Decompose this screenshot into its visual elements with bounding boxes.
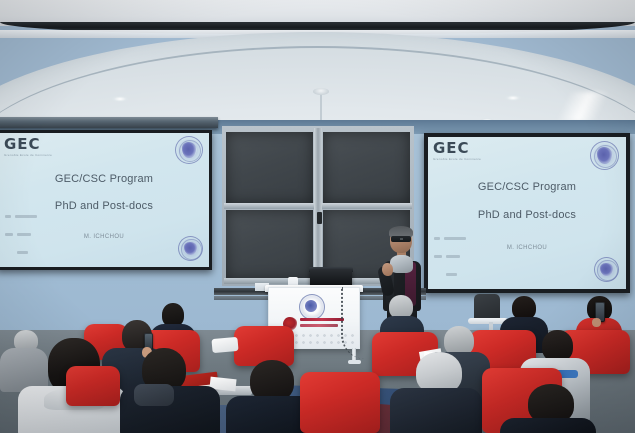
- slide-footer-row: [434, 248, 466, 266]
- footer-mark: [17, 251, 28, 254]
- slide-title: GEC/CSC Program: [428, 181, 626, 193]
- footer-mark: [434, 255, 442, 258]
- presenter-scarf: [390, 255, 413, 273]
- university-seal-icon: [175, 136, 203, 164]
- slide-logo-text: GEC: [4, 137, 52, 152]
- footer-mark: [434, 237, 440, 240]
- ceiling-light-icon: [505, 95, 521, 101]
- chalkboard-panel: [323, 132, 410, 204]
- person-hand: [592, 318, 601, 327]
- slide-footer-row: [5, 226, 37, 244]
- footer-mark: [5, 215, 11, 218]
- slide-logo-text: GEC: [433, 141, 481, 156]
- footer-mark: [444, 237, 466, 240]
- podium-emblem-text: [300, 318, 344, 321]
- footer-mark: [15, 215, 37, 218]
- slide-footer-row: [5, 208, 37, 226]
- slide-logo: GEC Grenoble Ecole de Commerce: [433, 141, 481, 161]
- seal-inner: [597, 147, 612, 163]
- right-projection-screen: GEC Grenoble Ecole de Commerce GEC/CSC P…: [424, 133, 630, 293]
- person-body: [500, 418, 596, 433]
- audience-member-foreground: [120, 348, 220, 433]
- seal-inner: [182, 142, 197, 158]
- slide-footer-row: [434, 230, 466, 248]
- person-scarf: [134, 384, 174, 406]
- lecture-hall-photo: GEC Grenoble Ecole de Commerce GEC/CSC P…: [0, 0, 635, 433]
- left-projection-screen: GEC Grenoble Ecole de Commerce GEC/CSC P…: [0, 130, 212, 270]
- audience-member-foreground: [500, 384, 596, 433]
- podium-emblem: [283, 316, 345, 331]
- sunglasses-bridge: [400, 238, 403, 240]
- hanging-microphone-icon: [313, 88, 329, 95]
- slide-logo-subtext: Grenoble Ecole de Commerce: [433, 158, 481, 161]
- footer-mark: [446, 273, 457, 276]
- footer-mark: [17, 233, 31, 236]
- ceiling-light-icon: [112, 96, 128, 102]
- footer-mark: [446, 255, 460, 258]
- chalkboard-panel: [226, 132, 313, 204]
- slide-footer: [5, 208, 37, 262]
- slide-logo: GEC Grenoble Ecole de Commerce: [4, 137, 52, 157]
- audience-chair-foreground: [66, 366, 120, 406]
- audience-chair-foreground: [300, 372, 380, 433]
- university-seal-icon: [594, 257, 619, 282]
- slide-footer-row: [434, 266, 466, 284]
- slide-surface: GEC Grenoble Ecole de Commerce GEC/CSC P…: [0, 133, 209, 267]
- podium-foot: [348, 360, 361, 364]
- slide-subtitle: PhD and Post-docs: [428, 209, 626, 221]
- university-seal-icon: [590, 141, 619, 170]
- chalkboard-clip-icon: [317, 212, 322, 224]
- footer-mark: [5, 233, 13, 236]
- slide-surface: GEC Grenoble Ecole de Commerce GEC/CSC P…: [428, 137, 626, 289]
- podium-seal-core: [305, 300, 317, 312]
- slide-title: GEC/CSC Program: [0, 173, 209, 185]
- chalkboard-panel: [226, 210, 313, 280]
- podium-emblem-text: [300, 324, 338, 327]
- chalkboard-rail-vertical: [314, 128, 322, 284]
- projection-screen-housing: [0, 117, 218, 128]
- ceiling-glare: [548, 92, 620, 122]
- slide-logo-subtext: Grenoble Ecole de Commerce: [4, 154, 52, 157]
- audience-member-foreground: [390, 352, 482, 433]
- presenter-hand: [382, 263, 393, 276]
- cable: [341, 287, 365, 359]
- person-body: [390, 388, 482, 433]
- slide-footer: [434, 230, 466, 284]
- slide-footer-row: [5, 244, 37, 262]
